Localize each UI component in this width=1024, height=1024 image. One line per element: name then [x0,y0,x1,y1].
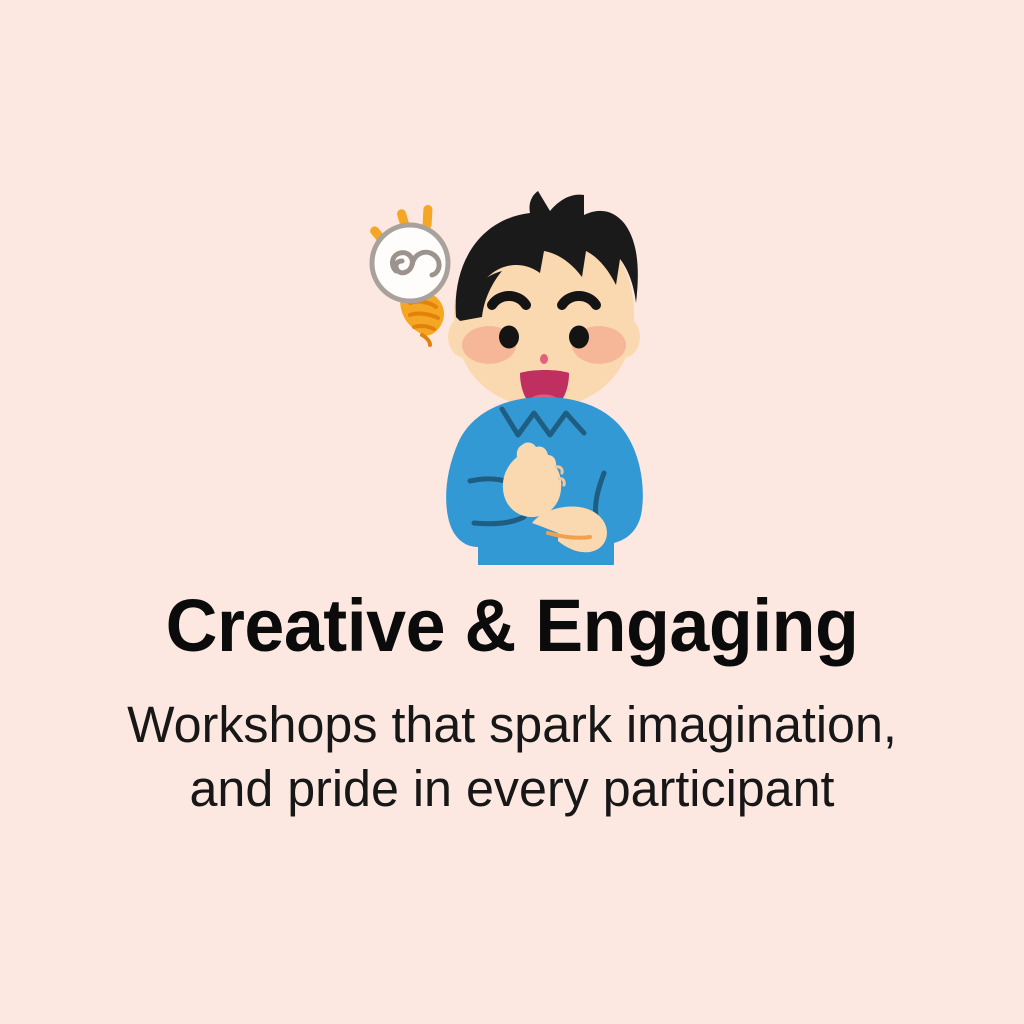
lightbulb-icon [372,225,448,301]
fist-hand [503,443,564,517]
illustration-svg [352,185,672,565]
subtitle-line-2: and pride in every participant [8,757,1017,821]
ears [448,316,640,358]
blush-cheeks [462,326,626,364]
body-shirt [446,397,643,565]
promo-card: Creative & Engaging Workshops that spark… [0,0,1024,1024]
open-palm-hand [532,507,607,553]
head [454,219,634,407]
collar [502,409,584,435]
nose-icon [540,354,548,364]
text-block: Creative & Engaging Workshops that spark… [0,583,1024,821]
eyebrows [492,296,596,305]
eyes [499,326,589,349]
arm-lines [470,473,604,541]
light-rays-icon [368,205,432,247]
hair [456,191,638,321]
subtitle-line-1: Workshops that spark imagination, [8,693,1017,757]
illustration-container [0,0,1024,1024]
page-subtitle: Workshops that spark imagination, and pr… [8,669,1017,821]
boy-with-idea-lightbulb-illustration [352,185,672,565]
lightbulb-base-icon [400,290,444,345]
page-title: Creative & Engaging [15,583,1008,669]
mouth [520,370,569,411]
